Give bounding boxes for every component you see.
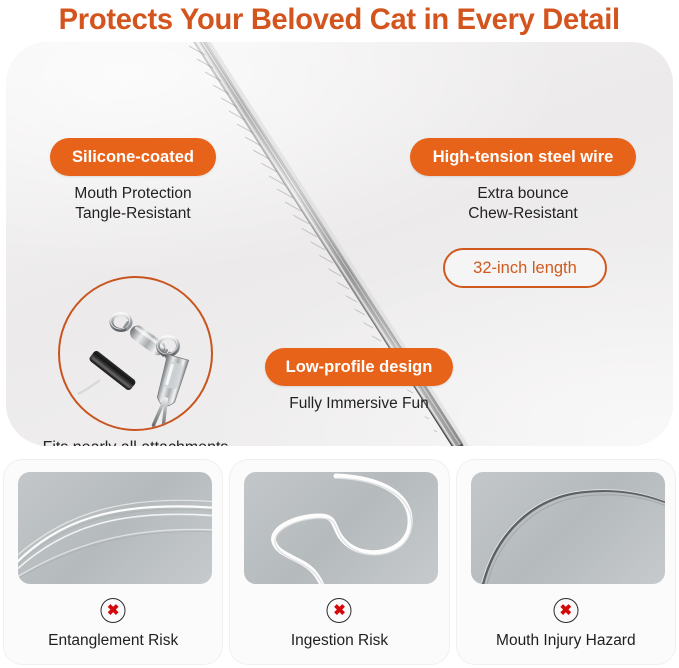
- risk-card-image-looped-cord: [244, 472, 438, 584]
- title-bar: Protects Your Beloved Cat in Every Detai…: [0, 0, 679, 40]
- feature-caption-silicone-coated: Mouth Protection Tangle-Resistant: [50, 184, 216, 224]
- feature-badge-32-inch-length: 32-inch length: [443, 248, 607, 288]
- feature-badge-label: High-tension steel wire: [433, 148, 614, 167]
- feature-badge-silicone-coated: Silicone-coated: [50, 138, 216, 176]
- feature-badge-low-profile-design: Low-profile design: [265, 348, 453, 386]
- x-glyph: ✖: [107, 603, 120, 618]
- red-x-circle-icon: ✖: [327, 598, 352, 623]
- feature-badge-label: Silicone-coated: [72, 148, 194, 167]
- risk-cards-row: ✖ Entanglement Risk ✖ Ingestion Risk ✖: [0, 460, 679, 668]
- feature-caption-high-tension-steel-wire: Extra bounce Chew-Resistant: [410, 184, 636, 224]
- red-x-circle-icon: ✖: [553, 598, 578, 623]
- red-x-circle-icon: ✖: [101, 598, 126, 623]
- attachment-caption: Fits nearly all attachments: [18, 438, 253, 446]
- risk-card-image-tangled-strings: [18, 472, 212, 584]
- risk-card-label: Mouth Injury Hazard: [457, 632, 675, 650]
- feature-badge-label: Low-profile design: [286, 358, 433, 377]
- risk-card-ingestion: ✖ Ingestion Risk: [230, 460, 448, 664]
- risk-card-mouth-injury: ✖ Mouth Injury Hazard: [457, 460, 675, 664]
- risk-card-label: Entanglement Risk: [4, 632, 222, 650]
- feature-badge-label: 32-inch length: [473, 259, 577, 278]
- feature-caption-low-profile-design: Fully Immersive Fun: [265, 394, 453, 414]
- hero-panel: Silicone-coated Mouth Protection Tangle-…: [6, 42, 673, 446]
- swivel-snap-clip-photo: [60, 278, 211, 429]
- risk-card-image-bare-wire: [471, 472, 665, 584]
- x-glyph: ✖: [333, 603, 346, 618]
- feature-badge-high-tension-steel-wire: High-tension steel wire: [410, 138, 636, 176]
- risk-card-entanglement: ✖ Entanglement Risk: [4, 460, 222, 664]
- x-glyph: ✖: [560, 603, 573, 618]
- page-title: Protects Your Beloved Cat in Every Detai…: [59, 3, 620, 37]
- risk-card-label: Ingestion Risk: [230, 632, 448, 650]
- attachment-photo-circle: [58, 276, 213, 431]
